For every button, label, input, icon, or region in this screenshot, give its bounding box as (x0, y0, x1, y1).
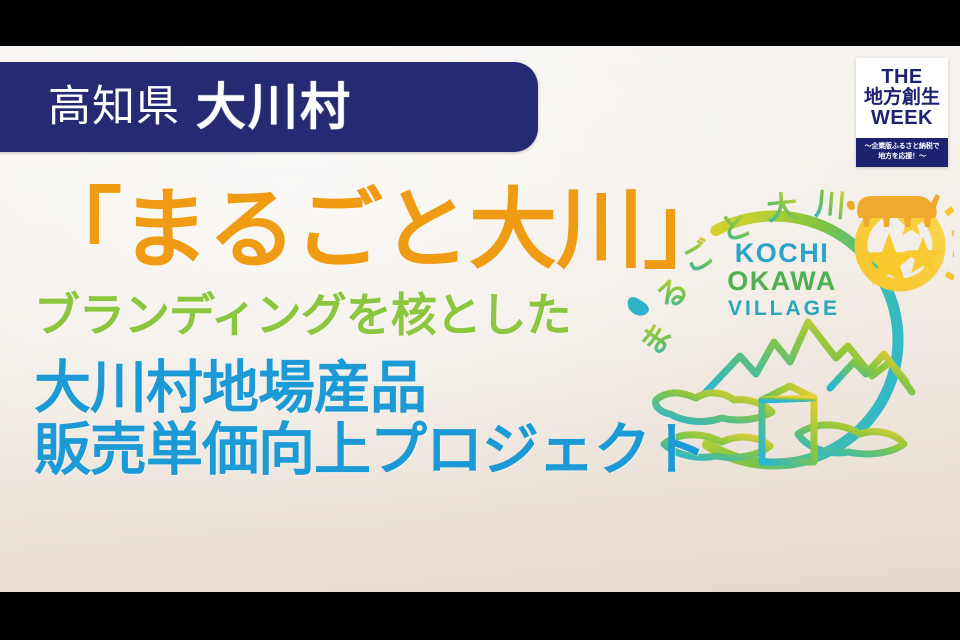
title-line-4: 販売単価向上プロジェクト (34, 420, 674, 480)
logo-building-windows (774, 412, 794, 446)
event-badge-body: THE 地方創生 WEEK (856, 58, 948, 138)
event-badge-line1: THE (860, 67, 944, 88)
logo-name-village: VILLAGE (728, 297, 840, 320)
video-frame: 高知県 大川村 THE 地方創生 WEEK 〜企業版ふるさと納税で 地方を応援！… (0, 0, 960, 640)
event-badge: THE 地方創生 WEEK 〜企業版ふるさと納税で 地方を応援！〜 (856, 58, 948, 167)
arc-char-4: 大 (765, 189, 799, 227)
prefecture-label: 高知県 (48, 86, 180, 129)
logo-name-kochi: KOCHI (735, 238, 830, 268)
event-badge-tagline-line2: 地方を応援！〜 (858, 152, 946, 162)
logo-name-text: KOCHI OKAWA VILLAGE (727, 238, 840, 320)
letterbox-bar-bottom (0, 592, 960, 640)
event-badge-tagline-line1: 〜企業版ふるさと納税で (858, 142, 946, 152)
letterbox-bar-top (0, 0, 960, 46)
presentation-slide: 高知県 大川村 THE 地方創生 WEEK 〜企業版ふるさと納税で 地方を応援！… (0, 46, 960, 592)
logo-name-okawa: OKAWA (727, 266, 837, 296)
headline-block: 「まるごと大川」 ブランディングを核とした 大川村地場産品 販売単価向上プロジェ… (34, 186, 674, 481)
title-main: 「まるごと大川」 (34, 186, 674, 274)
event-badge-line2: 地方創生 (860, 88, 944, 108)
village-label: 大川村 (196, 82, 352, 132)
logo-village-building-edge (762, 398, 814, 400)
title-line-3: 大川村地場産品 (34, 358, 674, 418)
event-badge-line3: WEEK (860, 108, 944, 129)
logo-cow-icon (847, 194, 940, 227)
title-subtitle: ブランディングを核とした (34, 292, 674, 338)
region-pill: 高知県 大川村 (0, 62, 538, 152)
arc-char-5: 川 (813, 186, 847, 224)
logo-sun-rays (946, 188, 954, 290)
event-badge-tagline: 〜企業版ふるさと納税で 地方を応援！〜 (856, 138, 948, 167)
